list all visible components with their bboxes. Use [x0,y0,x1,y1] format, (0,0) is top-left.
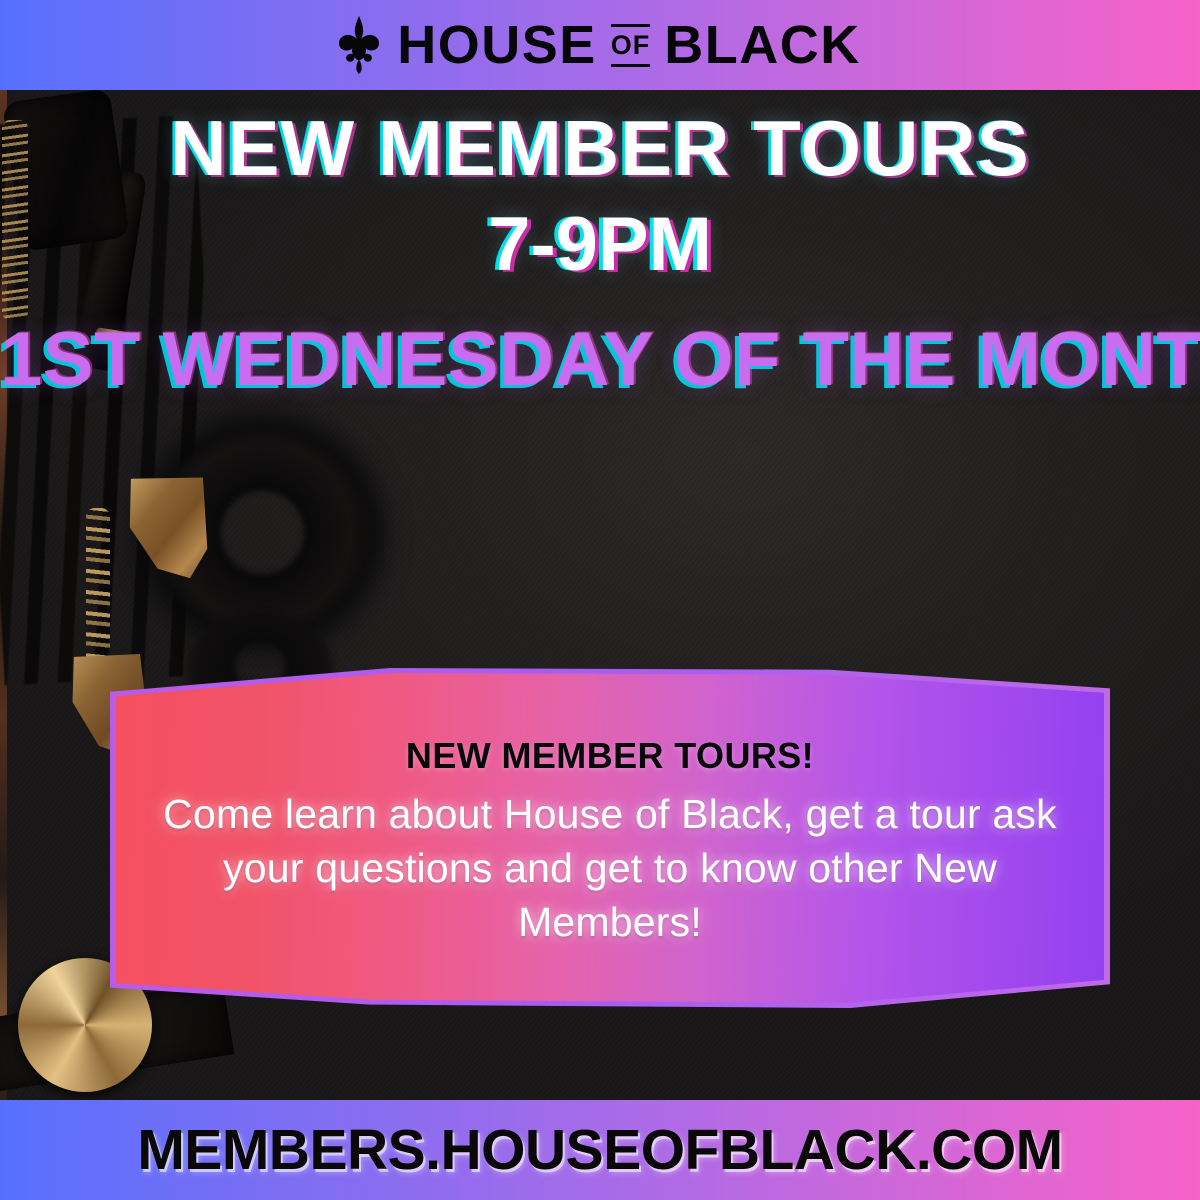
brand-word-house: HOUSE [397,18,597,72]
headline-primary: NEW MEMBER TOURS [0,108,1200,189]
info-panel-content: NEW MEMBER TOURS! Come learn about House… [110,668,1110,1008]
brand-header-band: HOUSE OF BLACK [0,0,1200,90]
info-panel: NEW MEMBER TOURS! Come learn about House… [110,668,1110,1008]
fleur-de-lis-icon [339,16,379,74]
brand-logo: HOUSE OF BLACK [339,16,861,74]
footer-url-text[interactable]: MEMBERS.HOUSEOFBLACK.COM [137,1117,1062,1183]
brand-word-black: BLACK [664,18,860,72]
info-panel-title: NEW MEMBER TOURS! [406,735,814,777]
headline-block: NEW MEMBER TOURS 7-9PM 1ST WEDNESDAY OF … [0,108,1200,399]
footer-url-band[interactable]: MEMBERS.HOUSEOFBLACK.COM [0,1100,1200,1200]
headline-time: 7-9PM [0,205,1200,284]
handcuff-chain-prop [86,508,110,673]
headline-schedule: 1ST WEDNESDAY OF THE MONTH [0,320,1200,399]
brand-wordmark: HOUSE OF BLACK [397,18,861,72]
promo-poster: HOUSE OF BLACK NEW MEMBER TOURS 7-9PM 1S… [0,0,1200,1200]
brand-word-of: OF [611,24,651,67]
info-panel-body: Come learn about House of Black, get a t… [144,787,1076,949]
